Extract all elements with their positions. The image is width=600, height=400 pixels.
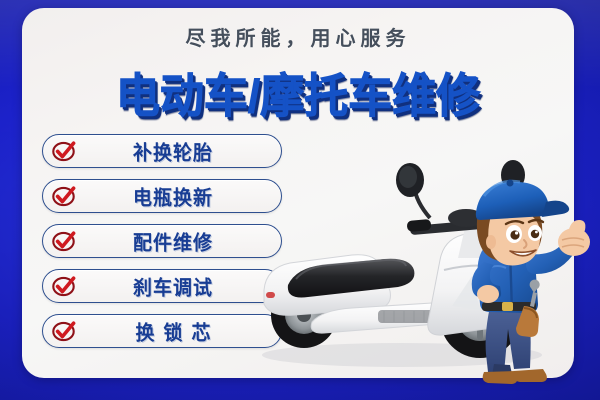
service-pill-4[interactable]: 刹车调试 — [42, 269, 282, 303]
service-pill-2[interactable]: 电瓶换新 — [42, 179, 282, 213]
headline-text: 电动车/摩托车维修 — [22, 58, 574, 126]
service-pill-label: 配件维修 — [81, 227, 271, 255]
tagline-text: 尽我所能，用心服务 — [22, 22, 574, 51]
service-pill-1[interactable]: 补换轮胎 — [42, 134, 282, 168]
service-pill-3[interactable]: 配件维修 — [42, 224, 282, 258]
service-pill-label: 电瓶换新 — [81, 182, 271, 210]
check-circle-icon — [51, 273, 77, 299]
poster-root: 尽我所能，用心服务 电动车/摩托车维修 补换轮胎 — [0, 0, 600, 400]
service-pill-label: 刹车调试 — [81, 272, 271, 300]
service-pill-list: 补换轮胎 电瓶换新 配件维修 — [42, 134, 282, 348]
service-pill-5[interactable]: 换锁芯 — [42, 314, 282, 348]
check-circle-icon — [51, 228, 77, 254]
service-pill-label: 换锁芯 — [81, 317, 271, 345]
artwork-scooter-and-mechanic — [252, 150, 600, 385]
thumbs-up-hand — [558, 220, 590, 256]
service-pill-label: 补换轮胎 — [81, 137, 271, 165]
check-circle-icon — [51, 318, 77, 344]
check-circle-icon — [51, 183, 77, 209]
check-circle-icon — [51, 138, 77, 164]
